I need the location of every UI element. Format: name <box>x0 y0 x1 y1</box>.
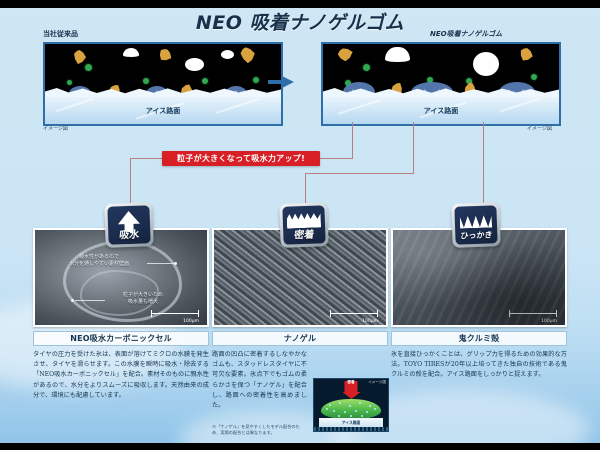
nanogel-body <box>321 399 381 419</box>
gel-particle <box>67 80 72 85</box>
water-drop <box>473 52 499 76</box>
body-text-absorb: タイヤの圧力を受けた氷は、表面が溶けてミクロの水膜を発生させ、タイヤを滑らせます… <box>33 350 209 401</box>
gel-particle <box>202 78 208 84</box>
inset-ice-hatch <box>314 427 388 431</box>
inset-ice-label: アイス路面 <box>319 418 383 427</box>
ice-road-surface: アイス路面 <box>323 94 559 124</box>
right-panel-label: NEO吸着ナノゲルゴム <box>430 29 502 39</box>
water-drop <box>185 58 204 71</box>
left-panel-label: 当社従来品 <box>43 29 78 39</box>
walnut-shell-particle <box>238 45 257 64</box>
body-text-nanogel: 路面の凹凸に密着するしなやかなゴムも、スタッドレスタイヤに不可欠な要素。氷点下で… <box>212 350 307 411</box>
connector-line <box>130 158 131 205</box>
connector-line <box>483 122 484 205</box>
badge-label: ひっかき <box>460 229 493 241</box>
connector-line <box>413 122 414 174</box>
gel-particle <box>143 78 149 84</box>
connector-line <box>352 122 353 159</box>
page-title: NEO 吸着ナノゲルゴム <box>0 8 600 35</box>
ice-road-label: アイス路面 <box>424 106 458 116</box>
connector-line <box>305 173 414 174</box>
badge-adhesion[interactable]: 密着 <box>279 202 329 248</box>
gel-particle <box>531 74 537 80</box>
inset-note: イメージ図 <box>368 380 386 385</box>
walnut-shell-particle <box>518 47 534 63</box>
micrograph-annotation: 粒子が大きいため 吸水量も増大 <box>107 292 179 306</box>
top-letterbox-bar <box>0 0 600 8</box>
water-film-blob <box>385 47 410 62</box>
card-caption: NEO吸水カーボニックセル <box>33 331 209 346</box>
bottom-letterbox-bar <box>0 443 600 450</box>
badge-label: 吸水 <box>119 226 141 242</box>
badge-absorb[interactable]: 吸水 <box>104 202 154 248</box>
badge-scratch[interactable]: ひっかき <box>451 202 501 248</box>
connector-line <box>320 158 353 159</box>
gel-particle <box>85 64 92 71</box>
water-film-blob <box>123 48 139 57</box>
scale-bar <box>151 310 199 317</box>
right-illustration-panel: アイス路面 <box>321 42 561 126</box>
card-caption: 鬼クルミ殻 <box>391 331 567 346</box>
connector-line <box>305 173 306 205</box>
ice-road-surface: アイス路面 <box>45 94 281 124</box>
nanogel-footnote: ※「ナノゲル」を見やすくしたモデル配合のため、実際の配合とは異なります。 <box>212 424 307 436</box>
highlight-banner: 粒子が大きくなって吸水力アップ! <box>162 151 320 166</box>
body-text-walnut: 氷を直接ひっかくことは、グリップ力を得るための効果的な方法。TOYO TIRES… <box>391 350 567 381</box>
right-panel-note: イメージ図 <box>527 125 552 132</box>
gel-particle <box>363 64 370 71</box>
spike-icon <box>460 212 493 228</box>
walnut-shell-particle <box>156 47 174 64</box>
water-drop <box>221 50 234 59</box>
advertisement-page: NEO 吸着ナノゲルゴム 当社従来品 アイス路面 イメージ図 NEO吸着 <box>0 0 600 450</box>
badge-label: 密着 <box>294 226 316 242</box>
walnut-shell-particle <box>335 46 354 64</box>
scale-label: 100μm <box>541 319 557 324</box>
scale-bar <box>330 310 378 317</box>
scale-label: 100μm <box>183 319 199 324</box>
adhesion-arrow-label: 密着 <box>345 381 358 385</box>
scale-label: 100μm <box>362 319 378 324</box>
left-illustration-panel: アイス路面 <box>43 42 283 126</box>
scale-bar <box>509 310 557 317</box>
micrograph-annotation: 親水性があるので 水分を通しやすい素材壁面 <box>53 254 145 268</box>
card-caption: ナノゲル <box>212 331 388 346</box>
nanogel-inset-diagram: イメージ図 密着 アイス路面 <box>313 378 389 432</box>
gel-particle <box>253 77 259 83</box>
ice-road-label: アイス路面 <box>146 106 180 116</box>
connector-line <box>130 158 163 159</box>
walnut-shell-particle <box>73 50 86 64</box>
left-panel-note: イメージ図 <box>43 125 68 132</box>
comparison-arrow-icon <box>282 76 294 88</box>
